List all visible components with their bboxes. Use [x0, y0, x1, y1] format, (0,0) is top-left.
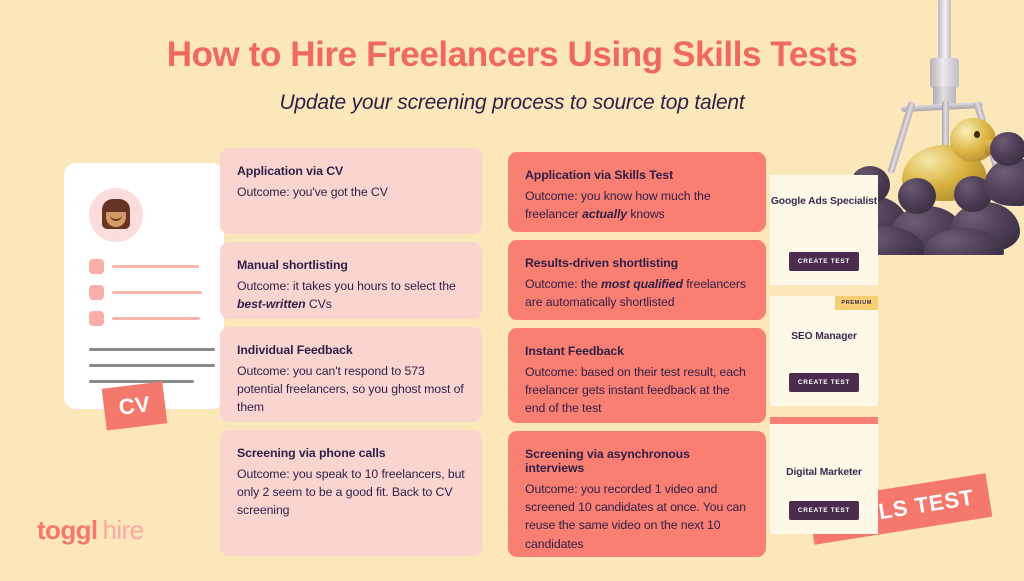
step-title: Instant Feedback: [525, 344, 749, 358]
step-card-screening-via-phone-calls[interactable]: Screening via phone calls Outcome: you s…: [220, 430, 482, 556]
dark-duck-icon: [898, 178, 936, 214]
toggl-hire-logo: togglhire: [37, 515, 144, 546]
step-body: Outcome: it takes you hours to select th…: [237, 277, 465, 313]
job-cards-panel: Google Ads Specialist CREATE TEST PREMIU…: [770, 175, 878, 534]
job-card-gap: [770, 406, 878, 417]
golden-duck-eye-icon: [974, 131, 980, 138]
step-card-screening-via-asynchronous-interviews[interactable]: Screening via asynchronous interviews Ou…: [508, 431, 766, 557]
job-card-seo-manager[interactable]: PREMIUM SEO Manager CREATE TEST: [770, 296, 878, 406]
step-title: Results-driven shortlisting: [525, 256, 749, 270]
claw-hub-icon: [930, 58, 959, 88]
cv-document-illustration: [64, 163, 224, 409]
dark-duck-icon: [990, 132, 1024, 166]
cv-pink-line: [112, 317, 200, 320]
step-card-instant-feedback[interactable]: Instant Feedback Outcome: based on their…: [508, 328, 766, 423]
cv-pink-line: [112, 291, 202, 294]
step-title: Individual Feedback: [237, 343, 465, 357]
step-title: Manual shortlisting: [237, 258, 465, 272]
step-card-application-via-skills-test[interactable]: Application via Skills Test Outcome: you…: [508, 152, 766, 232]
step-body: Outcome: based on their test result, eac…: [525, 363, 749, 418]
step-card-results-driven-shortlisting[interactable]: Results-driven shortlisting Outcome: the…: [508, 240, 766, 320]
create-test-button[interactable]: CREATE TEST: [789, 252, 859, 271]
job-card-gap: [770, 285, 878, 296]
cv-gray-line: [89, 364, 215, 367]
step-title: Screening via phone calls: [237, 446, 465, 460]
step-body: Outcome: the most qualified freelancers …: [525, 275, 749, 311]
step-card-individual-feedback[interactable]: Individual Feedback Outcome: you can't r…: [220, 327, 482, 422]
step-body: Outcome: you speak to 10 freelancers, bu…: [237, 465, 465, 520]
cv-gray-line: [89, 380, 194, 383]
create-test-button[interactable]: CREATE TEST: [789, 373, 859, 392]
logo-brand: toggl: [37, 515, 98, 545]
job-card-title: Digital Marketer: [786, 466, 862, 479]
create-test-button[interactable]: CREATE TEST: [789, 501, 859, 520]
cv-badge: CV: [102, 381, 168, 430]
step-body: Outcome: you've got the CV: [237, 183, 465, 201]
cv-bullet-square-icon: [89, 311, 104, 326]
logo-product: hire: [103, 515, 144, 545]
avatar-fringe-icon: [102, 199, 130, 212]
step-body: Outcome: you can't respond to 573 potent…: [237, 362, 465, 417]
skills-test-process-column: Application via Skills Test Outcome: you…: [508, 152, 766, 565]
cv-bullet-square-icon: [89, 285, 104, 300]
cv-gray-line: [89, 348, 215, 351]
claw-machine-duck-illustration: [854, 0, 1024, 255]
coral-divider: [770, 417, 878, 424]
step-title: Application via CV: [237, 164, 465, 178]
step-title: Screening via asynchronous interviews: [525, 447, 749, 475]
job-card-title: Google Ads Specialist: [771, 195, 877, 208]
avatar: [89, 188, 143, 242]
job-card-digital-marketer[interactable]: Digital Marketer CREATE TEST: [770, 424, 878, 534]
step-body: Outcome: you know how much the freelance…: [525, 187, 749, 223]
cv-bullet-square-icon: [89, 259, 104, 274]
job-card-google-ads-specialist[interactable]: Google Ads Specialist CREATE TEST: [770, 175, 878, 285]
cv-process-column: Application via CV Outcome: you've got t…: [220, 148, 482, 564]
step-title: Application via Skills Test: [525, 168, 749, 182]
job-card-title: SEO Manager: [791, 330, 857, 343]
step-card-application-via-cv[interactable]: Application via CV Outcome: you've got t…: [220, 148, 482, 234]
step-card-manual-shortlisting[interactable]: Manual shortlisting Outcome: it takes yo…: [220, 242, 482, 319]
step-body: Outcome: you recorded 1 video and screen…: [525, 480, 749, 553]
premium-badge: PREMIUM: [835, 296, 878, 310]
cv-pink-line: [112, 265, 199, 268]
